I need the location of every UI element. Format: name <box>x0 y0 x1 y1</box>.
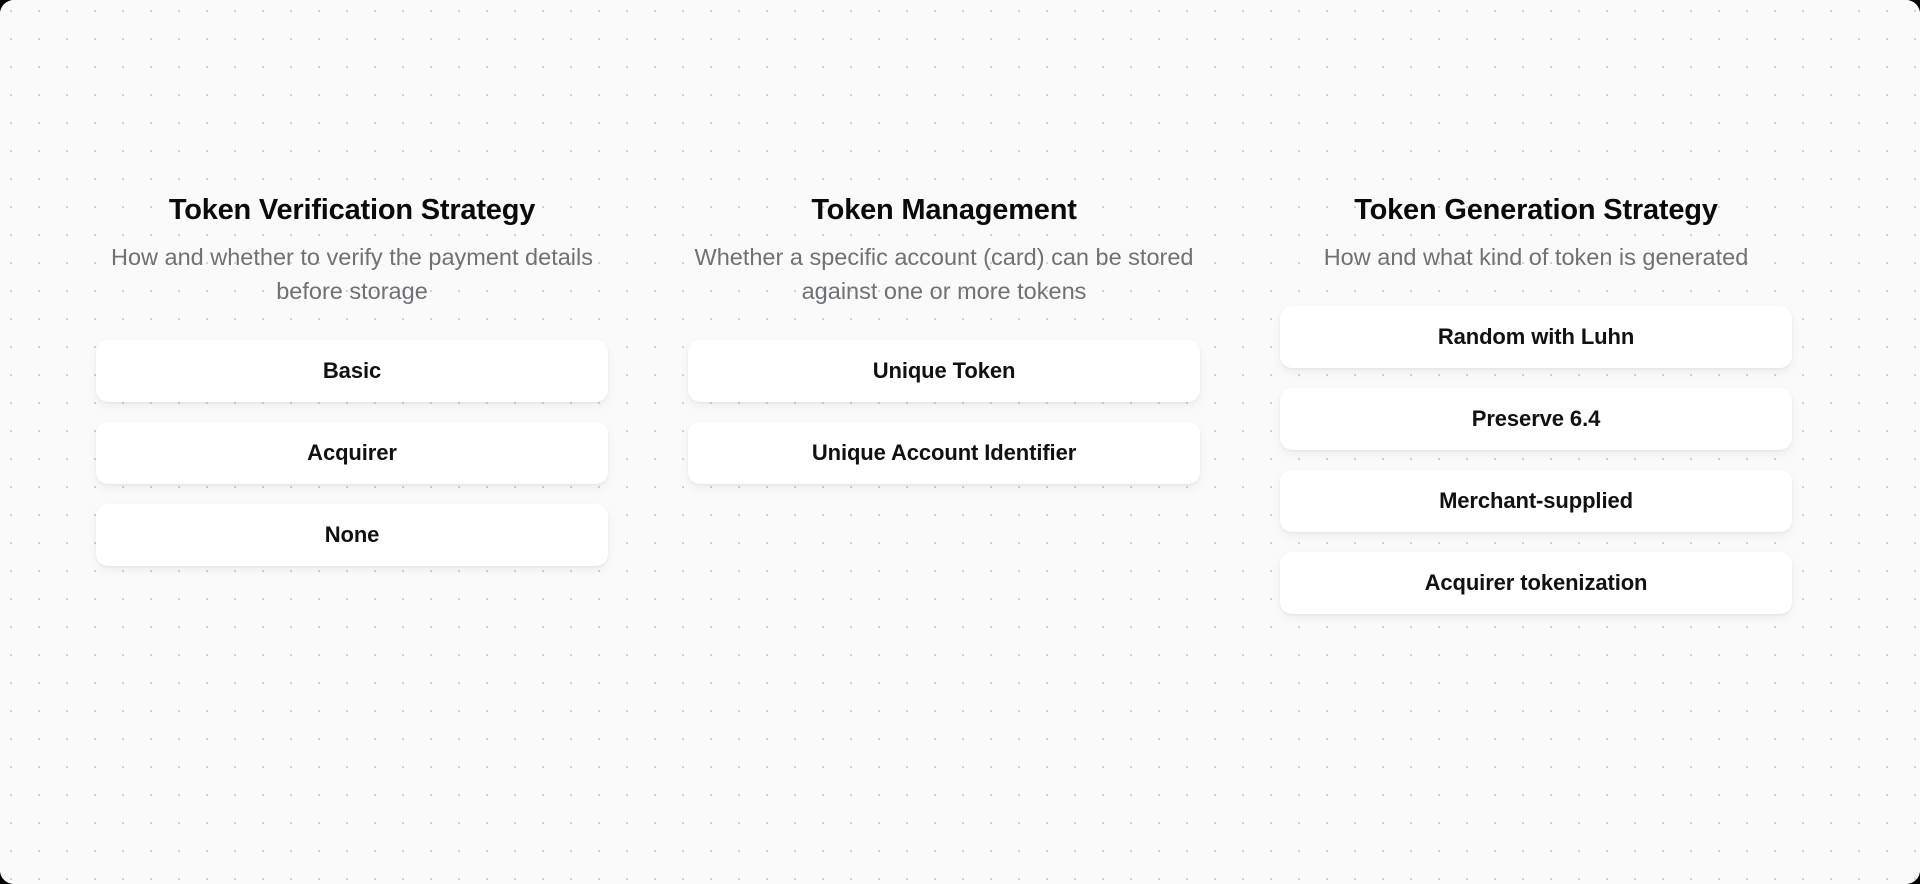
column-subtitle: How and what kind of token is generated <box>1280 240 1792 274</box>
option-label: Unique Token <box>873 360 1016 382</box>
option-card[interactable]: Preserve 6.4 <box>1280 388 1792 450</box>
option-card[interactable]: None <box>96 504 608 566</box>
options-columns-container: Token Verification Strategy How and whet… <box>0 0 1920 884</box>
column-title: Token Management <box>688 192 1200 228</box>
column-title: Token Generation Strategy <box>1280 192 1792 228</box>
option-card[interactable]: Merchant-supplied <box>1280 470 1792 532</box>
option-list: Basic Acquirer None <box>96 340 608 566</box>
option-card[interactable]: Unique Account Identifier <box>688 422 1200 484</box>
option-label: Acquirer <box>307 442 397 464</box>
option-card[interactable]: Random with Luhn <box>1280 306 1792 368</box>
option-card[interactable]: Acquirer <box>96 422 608 484</box>
column-subtitle: Whether a specific account (card) can be… <box>688 240 1200 308</box>
column-token-management: Token Management Whether a specific acco… <box>688 192 1200 484</box>
option-label: Unique Account Identifier <box>812 442 1076 464</box>
option-card[interactable]: Unique Token <box>688 340 1200 402</box>
option-label: Merchant-supplied <box>1439 490 1633 512</box>
app-frame: Token Verification Strategy How and whet… <box>0 0 1920 884</box>
column-title: Token Verification Strategy <box>96 192 608 228</box>
column-token-generation-strategy: Token Generation Strategy How and what k… <box>1280 192 1792 614</box>
column-subtitle: How and whether to verify the payment de… <box>96 240 608 308</box>
option-label: None <box>325 524 380 546</box>
option-label: Acquirer tokenization <box>1425 572 1648 594</box>
option-card[interactable]: Acquirer tokenization <box>1280 552 1792 614</box>
option-card[interactable]: Basic <box>96 340 608 402</box>
option-label: Random with Luhn <box>1438 326 1634 348</box>
option-label: Basic <box>323 360 381 382</box>
option-list: Random with Luhn Preserve 6.4 Merchant-s… <box>1280 306 1792 614</box>
option-label: Preserve 6.4 <box>1472 408 1600 430</box>
column-token-verification-strategy: Token Verification Strategy How and whet… <box>96 192 608 566</box>
option-list: Unique Token Unique Account Identifier <box>688 340 1200 484</box>
